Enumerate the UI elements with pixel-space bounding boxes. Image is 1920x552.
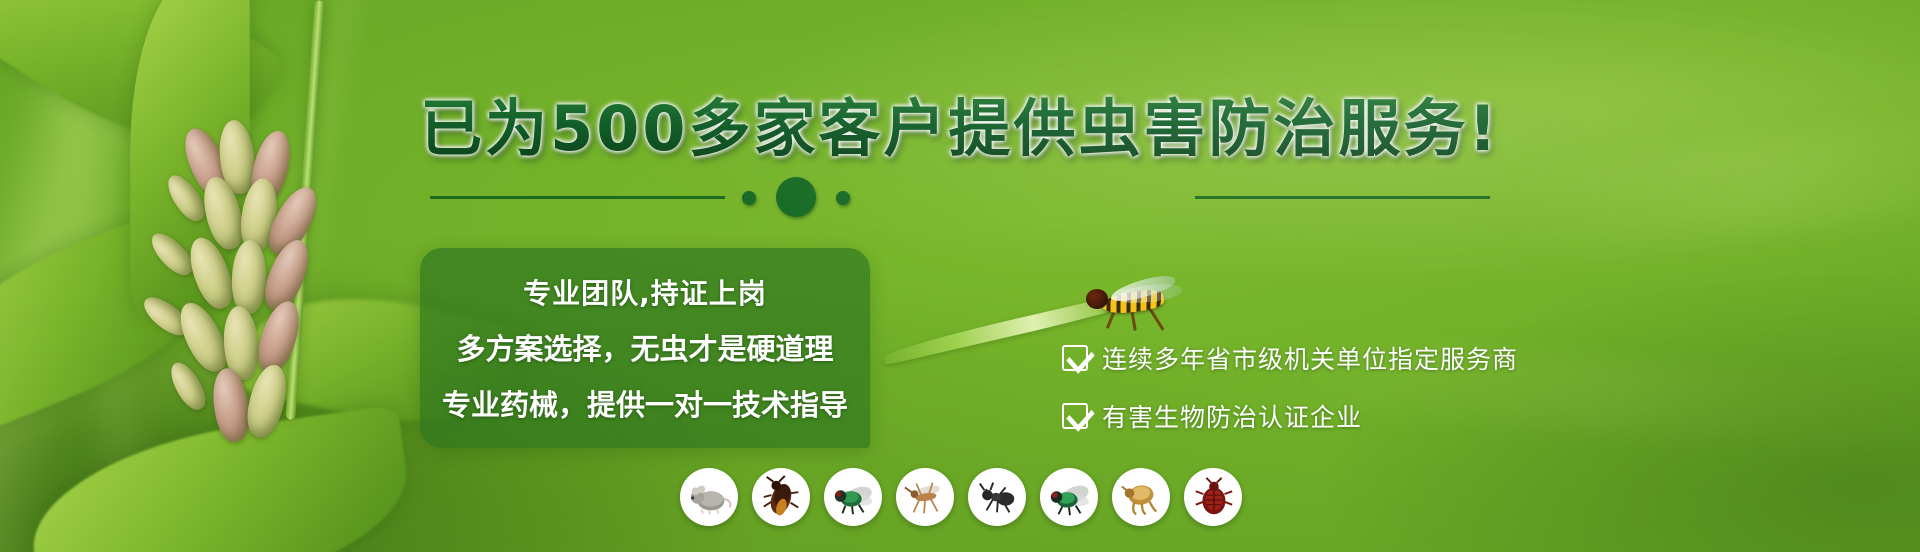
ant-icon[interactable] (968, 468, 1026, 526)
small-dot-icon-left (742, 191, 756, 205)
blowfly-icon[interactable] (1040, 468, 1098, 526)
mosquito-icon[interactable] (896, 468, 954, 526)
checkbox-checked-icon (1062, 403, 1088, 429)
checkbox-checked-icon (1062, 345, 1088, 371)
list-item: 有害生物防治认证企业 (1062, 398, 1622, 434)
certification-list: 连续多年省市级机关单位指定服务商 有害生物防治认证企业 (1062, 340, 1622, 456)
claim-line-2: 多方案选择，无虫才是硬道理 (456, 326, 833, 368)
mouse-icon[interactable] (680, 468, 738, 526)
small-dot-icon-right (836, 191, 850, 205)
certification-text-1: 连续多年省市级机关单位指定服务商 (1102, 340, 1518, 376)
large-dot-icon (776, 177, 816, 217)
list-item: 连续多年省市级机关单位指定服务商 (1062, 340, 1622, 376)
rule-right-icon (1195, 196, 1490, 199)
claim-line-3: 专业药械，提供一对一技术指导 (442, 382, 848, 424)
pest-icon-row (680, 468, 1242, 526)
rule-left-icon (430, 196, 725, 199)
claim-line-1: 专业团队,持证上岗 (523, 272, 767, 312)
fly-icon[interactable] (824, 468, 882, 526)
claim-panel-text: 专业团队,持证上岗 多方案选择，无虫才是硬道理 专业药械，提供一对一技术指导 (420, 248, 870, 448)
flea-icon[interactable] (1112, 468, 1170, 526)
cockroach-icon[interactable] (752, 468, 810, 526)
certification-text-2: 有害生物防治认证企业 (1102, 398, 1362, 434)
decoration-row (0, 155, 1920, 215)
pest-control-banner: 已为500多家客户提供虫害防治服务! 专业团队,持证上岗 多方案选择，无虫才是硬… (0, 0, 1920, 552)
bedbug-icon[interactable] (1184, 468, 1242, 526)
